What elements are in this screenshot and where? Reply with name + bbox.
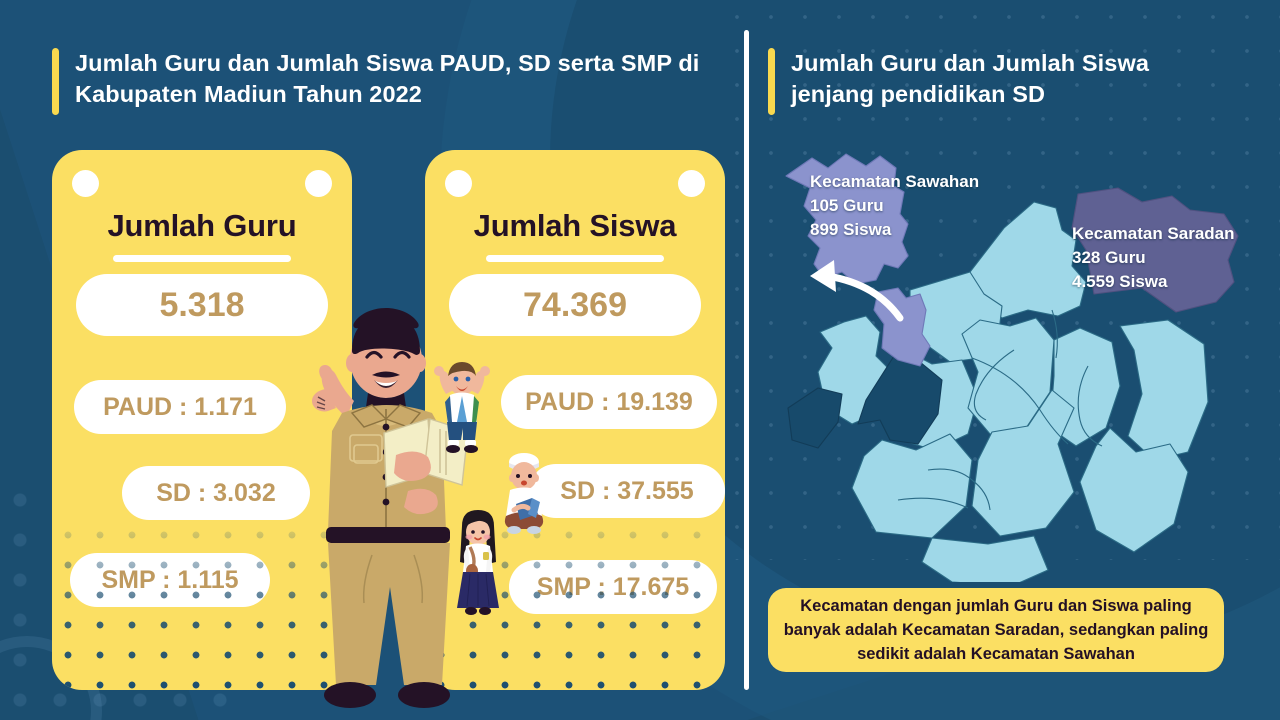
infographic-canvas: Jumlah Guru dan Jumlah Siswa PAUD, SD se…: [0, 0, 1280, 720]
stat-total-siswa: 74.369: [449, 274, 701, 336]
card-heading-underline: [113, 255, 291, 262]
map-label-saradan-district: Kecamatan Saradan: [1072, 222, 1235, 246]
panel-divider: [744, 30, 749, 690]
title-accent-bar: [768, 48, 775, 115]
left-panel-title: Jumlah Guru dan Jumlah Siswa PAUD, SD se…: [52, 48, 712, 115]
title-accent-bar: [52, 48, 59, 115]
map-summary-callout: Kecamatan dengan jumlah Guru dan Siswa p…: [768, 588, 1224, 672]
map-district-light-southeast: [1080, 428, 1188, 552]
map-district-light-south: [922, 536, 1048, 582]
map-district-light-east: [1120, 320, 1208, 460]
card-heading-guru: Jumlah Guru: [52, 208, 352, 244]
stat-card-siswa: Jumlah Siswa 74.369 PAUD : 19.139 SD : 3…: [425, 150, 725, 690]
map-label-sawahan-teachers: 105 Guru: [810, 194, 979, 218]
stat-total-guru: 5.318: [76, 274, 328, 336]
stat-row-guru-paud: PAUD : 1.171: [74, 380, 286, 434]
stat-row-siswa-smp: SMP : 17.675: [509, 560, 717, 614]
card-notch-right: [305, 170, 332, 197]
map-label-sawahan-students: 899 Siswa: [810, 218, 979, 242]
right-panel-title: Jumlah Guru dan Jumlah Siswa jenjang pen…: [768, 48, 1238, 115]
stat-card-guru: Jumlah Guru 5.318 PAUD : 1.171 SD : 3.03…: [52, 150, 352, 690]
map-district-dark-navy-2: [788, 388, 842, 448]
card-heading-underline: [486, 255, 664, 262]
map-label-sawahan: Kecamatan Sawahan 105 Guru 899 Siswa: [810, 170, 979, 242]
map-label-saradan-students: 4.559 Siswa: [1072, 270, 1235, 294]
map-summary-callout-text: Kecamatan dengan jumlah Guru dan Siswa p…: [782, 594, 1210, 666]
map-label-saradan: Kecamatan Saradan 328 Guru 4.559 Siswa: [1072, 222, 1235, 294]
map-district-light-southwest: [852, 434, 972, 538]
card-heading-siswa: Jumlah Siswa: [425, 208, 725, 244]
stat-row-siswa-sd: SD : 37.555: [529, 464, 725, 518]
stat-row-guru-sd: SD : 3.032: [122, 466, 310, 520]
card-notch-right: [678, 170, 705, 197]
left-panel-title-text: Jumlah Guru dan Jumlah Siswa PAUD, SD se…: [75, 48, 712, 110]
map-pointer-arrow-icon: [788, 232, 918, 322]
right-panel-title-text: Jumlah Guru dan Jumlah Siswa jenjang pen…: [791, 48, 1238, 110]
map-label-sawahan-district: Kecamatan Sawahan: [810, 170, 979, 194]
stat-row-siswa-paud: PAUD : 19.139: [501, 375, 717, 429]
card-notch-left: [445, 170, 472, 197]
stat-row-guru-smp: SMP : 1.115: [70, 553, 270, 607]
map-label-saradan-teachers: 328 Guru: [1072, 246, 1235, 270]
card-notch-left: [72, 170, 99, 197]
